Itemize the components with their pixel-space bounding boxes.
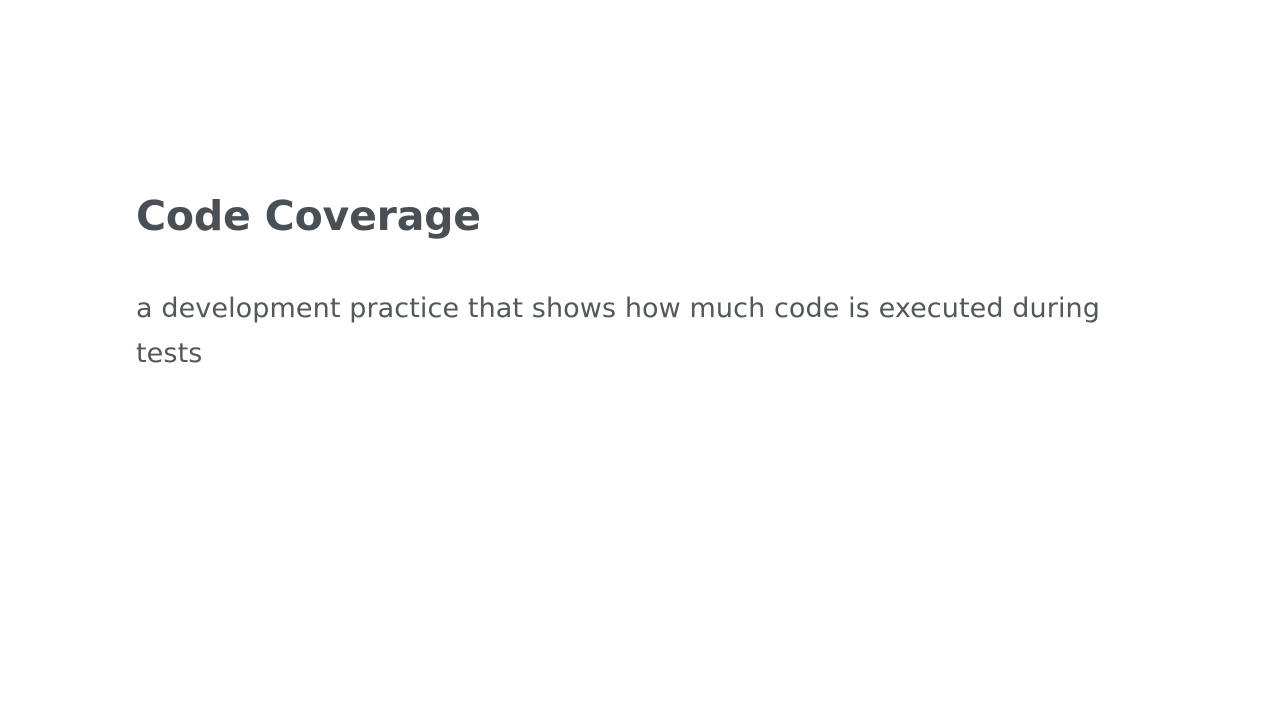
slide-description: a development practice that shows how mu… (136, 242, 1148, 376)
page-title: Code Coverage (136, 190, 1156, 242)
slide-canvas: Code Coverage a development practice tha… (0, 0, 1280, 720)
slide-text-block: Code Coverage a development practice tha… (136, 190, 1156, 376)
